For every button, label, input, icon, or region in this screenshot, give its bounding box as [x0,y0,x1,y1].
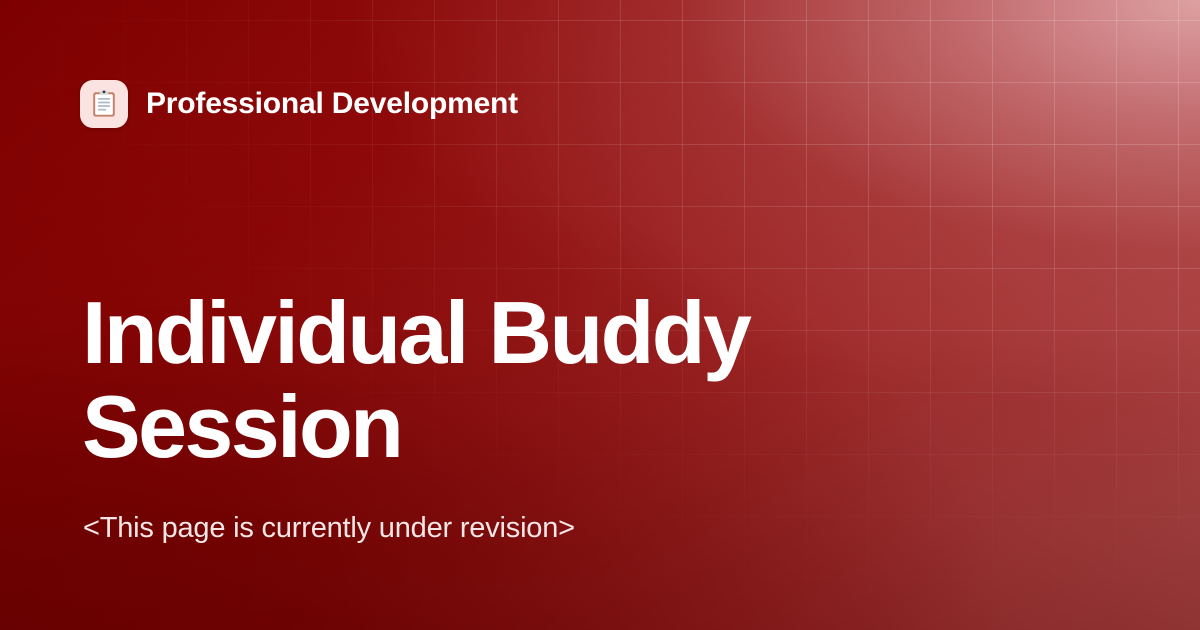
brand-lockup: Professional Development [80,80,518,128]
clipboard-icon [89,89,119,119]
social-share-card: Professional Development Individual Budd… [0,0,1200,630]
clipboard-icon-badge [80,80,128,128]
page-subtitle: <This page is currently under revision> [83,510,575,548]
card-content: Professional Development Individual Budd… [0,0,1200,630]
brand-title: Professional Development [146,89,518,119]
page-title: Individual Buddy Session [82,286,902,474]
